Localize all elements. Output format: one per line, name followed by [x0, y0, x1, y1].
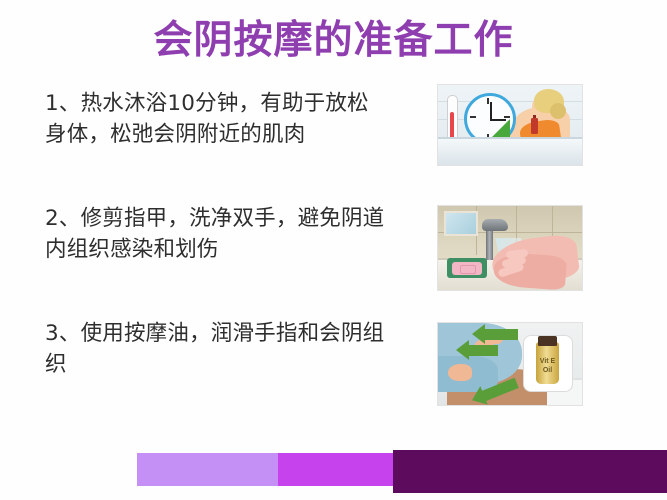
- tips-list: 1、热水沐浴10分钟，有助于放松身体，松弛会阴附近的肌肉: [0, 82, 667, 427]
- clock-tick-icon: [504, 116, 510, 118]
- list-item: 1、热水沐浴10分钟，有助于放松身体，松弛会阴附近的肌肉: [0, 82, 667, 197]
- direction-arrow-icon: [484, 329, 518, 340]
- oil-bottle-cap-icon: [538, 336, 557, 346]
- woman-hair-bun-icon: [550, 103, 566, 119]
- clock-elapsed-wedge: [490, 119, 510, 139]
- tip-text-1: 1、热水沐浴10分钟，有助于放松身体，松弛会阴附近的肌肉: [45, 88, 390, 150]
- tip-text-2: 2、修剪指甲，洗净双手，避免阴道内组织感染和划伤: [45, 203, 390, 265]
- clock-tick-icon: [487, 98, 489, 104]
- washing-scene-graphic: [438, 206, 582, 290]
- bath-scene-graphic: [438, 85, 582, 165]
- oil-bottle-label-line2: Oil: [536, 367, 559, 375]
- massage-scene-graphic: Vit E Oil: [438, 323, 582, 405]
- tip-text-3: 3、使用按摩油，润滑手指和会阴组织: [45, 318, 390, 380]
- oil-bottle-label-line1: Vit E: [536, 358, 559, 366]
- hand-icon: [448, 364, 472, 381]
- list-item: 2、修剪指甲，洗净双手，避免阴道内组织感染和划伤: [0, 197, 667, 312]
- bathtub-icon: [438, 137, 582, 165]
- hand-washing-illustration: [437, 205, 583, 291]
- clock-minute-hand: [490, 102, 492, 119]
- oil-bottle-inset: Vit E Oil: [523, 335, 573, 392]
- clock-hour-hand: [490, 119, 506, 121]
- color-band-bright-purple: [278, 453, 393, 486]
- oil-bottle-icon: Vit E Oil: [536, 342, 559, 384]
- soap-dish-icon: [447, 258, 487, 278]
- massage-oil-illustration: Vit E Oil: [437, 322, 583, 406]
- faucet-head-icon: [482, 219, 508, 231]
- list-item: 3、使用按摩油，润滑手指和会阴组织 Vit E: [0, 312, 667, 427]
- clock-tick-icon: [470, 116, 476, 118]
- shampoo-bottle-icon: [531, 118, 538, 134]
- direction-arrow-icon: [468, 345, 498, 356]
- soap-bar-icon: [452, 262, 482, 275]
- hot-bath-illustration: [437, 84, 583, 166]
- mirror-icon: [444, 211, 478, 236]
- color-band-light-purple: [137, 453, 278, 486]
- slide-canvas: 会阴按摩的准备工作 1、热水沐浴10分钟，有助于放松身体，松弛会阴附近的肌肉: [0, 0, 667, 500]
- color-band-dark-purple: du @ 妈妈宝贝集合地: [393, 450, 667, 493]
- page-title: 会阴按摩的准备工作: [0, 18, 667, 64]
